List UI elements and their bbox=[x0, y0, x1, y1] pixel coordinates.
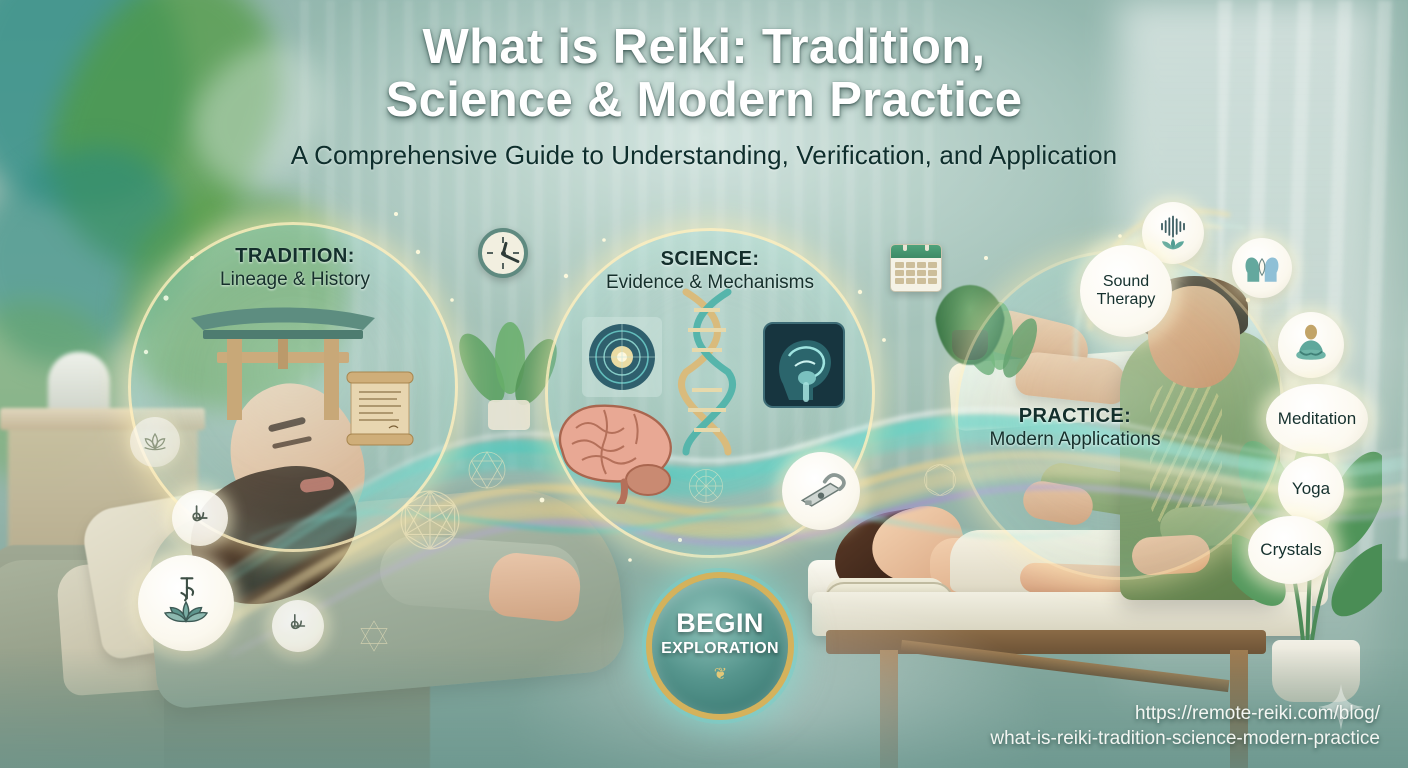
section-kicker: SCIENCE: bbox=[545, 248, 875, 271]
section-label-practice: PRACTICE: Modern Applications bbox=[930, 405, 1220, 451]
source-url[interactable]: https://remote-reiki.com/blog/ what-is-r… bbox=[990, 701, 1380, 752]
section-kicker: PRACTICE: bbox=[930, 405, 1220, 428]
page-title: What is Reiki: Tradition, Science & Mode… bbox=[0, 22, 1408, 171]
title-line-1: What is Reiki: Tradition, bbox=[0, 22, 1408, 73]
scroll-icon bbox=[345, 368, 415, 448]
lotus-outline-icon bbox=[130, 417, 180, 467]
section-subtitle: Modern Applications bbox=[930, 429, 1220, 451]
url-line-2: what-is-reiki-tradition-science-modern-p… bbox=[990, 726, 1380, 752]
brain-icon bbox=[548, 394, 680, 504]
cta-flourish-icon: ❦ bbox=[714, 664, 726, 684]
meditating-figure-icon bbox=[1278, 312, 1344, 378]
cta-line-2: EXPLORATION bbox=[661, 640, 779, 658]
lotus-reiki-symbol-icon bbox=[138, 555, 234, 651]
dna-helix-icon bbox=[672, 288, 742, 456]
section-subtitle: Lineage & History bbox=[130, 269, 460, 291]
modality-label: Crystals bbox=[1260, 540, 1321, 559]
page-subtitle: A Comprehensive Guide to Understanding, … bbox=[0, 140, 1408, 171]
wall-calendar-icon bbox=[890, 244, 942, 292]
title-line-2: Science & Modern Practice bbox=[0, 73, 1408, 128]
wall-clock-icon bbox=[478, 228, 528, 278]
cta-line-1: BEGIN bbox=[676, 608, 764, 639]
energy-field-icon bbox=[580, 315, 664, 399]
modality-meditation[interactable]: Meditation bbox=[1266, 384, 1368, 454]
begin-exploration-button[interactable]: BEGIN EXPLORATION ❦ bbox=[646, 572, 794, 720]
modality-label: Meditation bbox=[1278, 409, 1356, 428]
measurement-device-icon bbox=[782, 452, 860, 530]
modality-label: Yoga bbox=[1292, 479, 1330, 498]
mindfulness-heads-icon bbox=[1232, 238, 1292, 298]
modality-label: SoundTherapy bbox=[1097, 273, 1156, 309]
modality-yoga[interactable]: Yoga bbox=[1278, 456, 1344, 522]
section-kicker: TRADITION: bbox=[130, 245, 460, 268]
section-label-tradition: TRADITION: Lineage & History bbox=[130, 245, 460, 291]
modality-sound-therapy[interactable]: SoundTherapy bbox=[1080, 245, 1172, 337]
infographic-canvas: SoundTherapy Meditation Yoga Crystals TR… bbox=[0, 0, 1408, 768]
cho-ku-rei-symbol-icon bbox=[172, 490, 228, 546]
modality-crystals[interactable]: Crystals bbox=[1248, 516, 1334, 584]
url-line-1: https://remote-reiki.com/blog/ bbox=[990, 701, 1380, 727]
cho-ku-rei-symbol-small-icon bbox=[272, 600, 324, 652]
brain-scan-icon bbox=[763, 322, 845, 408]
